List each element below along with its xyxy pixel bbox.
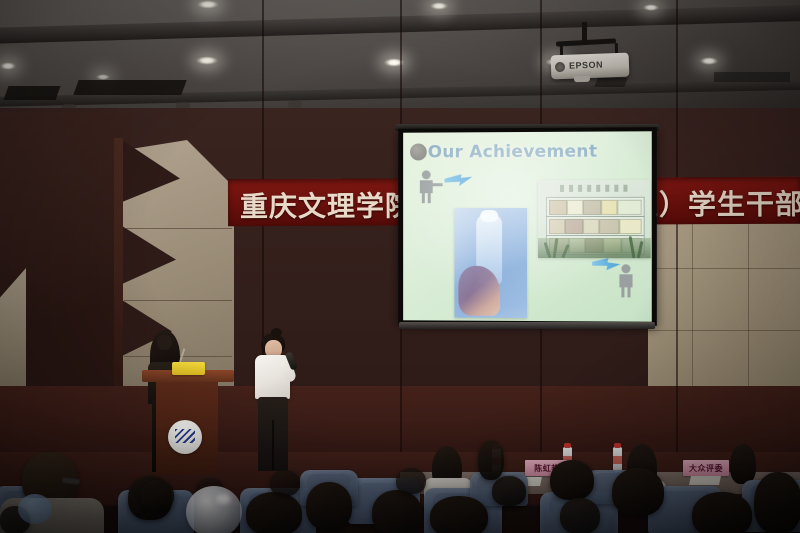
figure-leg: [627, 287, 630, 297]
presenter-leg-split: [272, 420, 274, 470]
projector-brand-label: EPSON: [569, 60, 603, 71]
figure-head: [621, 264, 630, 273]
audience-head: [612, 468, 664, 516]
bottle-cap: [614, 443, 621, 448]
emblem-wave-pattern: [175, 429, 195, 443]
projector-foot: [574, 76, 590, 83]
board-header-text: [560, 185, 630, 192]
bottle-cap: [564, 443, 571, 448]
presentation-slide: Our Achievement: [403, 131, 652, 321]
figure-leg: [621, 287, 624, 297]
figure-leg: [422, 193, 425, 203]
right-tile-wall: [648, 208, 800, 398]
downlight-icon: [430, 2, 448, 10]
photo-highlight: [454, 208, 527, 318]
audience-head: [140, 480, 174, 510]
audience-head: [246, 492, 302, 533]
presenter-hair-bun: [271, 328, 282, 337]
audience-head: [372, 490, 422, 533]
university-emblem-icon: [168, 420, 202, 454]
water-bottle: [613, 447, 622, 472]
ceiling-speaker: [288, 101, 302, 108]
wall-panel-seam: [124, 228, 232, 229]
ceiling-vent: [714, 72, 790, 82]
figure-leg: [428, 193, 431, 203]
slide-title: Our Achievement: [428, 142, 598, 163]
paper-document: [689, 476, 721, 485]
ceiling-vent: [73, 80, 186, 95]
board-cell: [583, 200, 601, 215]
ceiling-vent: [3, 86, 60, 100]
board-cell: [599, 219, 619, 234]
audience-head: [492, 476, 526, 506]
figure-body: [420, 180, 433, 193]
projection-screen: Our Achievement: [398, 127, 657, 326]
audience-head: [692, 492, 752, 533]
downlight-icon: [196, 56, 218, 65]
tile-seam: [692, 208, 693, 398]
figure-head: [422, 170, 431, 179]
board-cell: [601, 200, 617, 215]
stick-figure-pointing-bottom-right: [618, 264, 644, 298]
audience-head: [430, 496, 488, 533]
judge-hair: [730, 444, 756, 484]
audience-head: [478, 440, 504, 480]
audience-head: [396, 468, 426, 494]
bottle-label: [613, 456, 622, 464]
downlight-icon: [0, 62, 16, 70]
board-cell: [619, 219, 641, 234]
tile-seam: [648, 268, 800, 269]
figure-body: [619, 274, 632, 287]
slide-photo-hands: [454, 208, 527, 318]
ceiling-vent: [594, 78, 627, 87]
blue-balloon: [18, 494, 52, 524]
judge-name-text: 大众评委: [689, 463, 723, 474]
podium-attendant-head: [157, 335, 172, 350]
board-cell: [617, 200, 641, 215]
board-row: [546, 216, 645, 236]
downlight-icon: [643, 4, 659, 11]
downlight-icon: [700, 57, 718, 65]
blue-arrow-icon: [592, 258, 620, 270]
tile-seam: [648, 330, 800, 331]
audience-head: [754, 472, 800, 533]
blue-arrow-icon: [445, 174, 473, 186]
board-cell: [549, 219, 565, 234]
projector-lens-icon: [555, 62, 565, 72]
judge-name-card: 大众评委: [683, 460, 729, 476]
white-balloon: [186, 486, 242, 533]
board-cell: [583, 219, 599, 234]
stick-figure-pointing-top-left: [419, 170, 445, 204]
figure-arm: [432, 183, 443, 186]
yellow-box-on-podium: [172, 362, 205, 375]
board-cell: [567, 200, 583, 215]
projector-body: EPSON: [551, 53, 630, 80]
audience-head: [270, 470, 300, 496]
downlight-icon: [197, 0, 219, 9]
wall-panel-divider: [114, 138, 123, 402]
balloon-highlight: [216, 494, 230, 504]
board-cell: [565, 219, 583, 234]
board-row: [546, 197, 645, 217]
audience-head: [306, 482, 352, 530]
screen-bottom-bar: [399, 322, 655, 329]
board-cell: [549, 200, 567, 215]
audience-head: [560, 498, 600, 533]
slide-photo-bulletin-board: [538, 180, 651, 259]
tile-seam: [748, 208, 749, 398]
wall-panel-seam: [124, 300, 232, 301]
audience-head: [550, 460, 594, 500]
slide-bullet-icon: [410, 144, 427, 161]
auditorium-photo: 重庆文理学院2017 河校区）学生干部 EPSON Our Achievemen…: [0, 0, 800, 533]
